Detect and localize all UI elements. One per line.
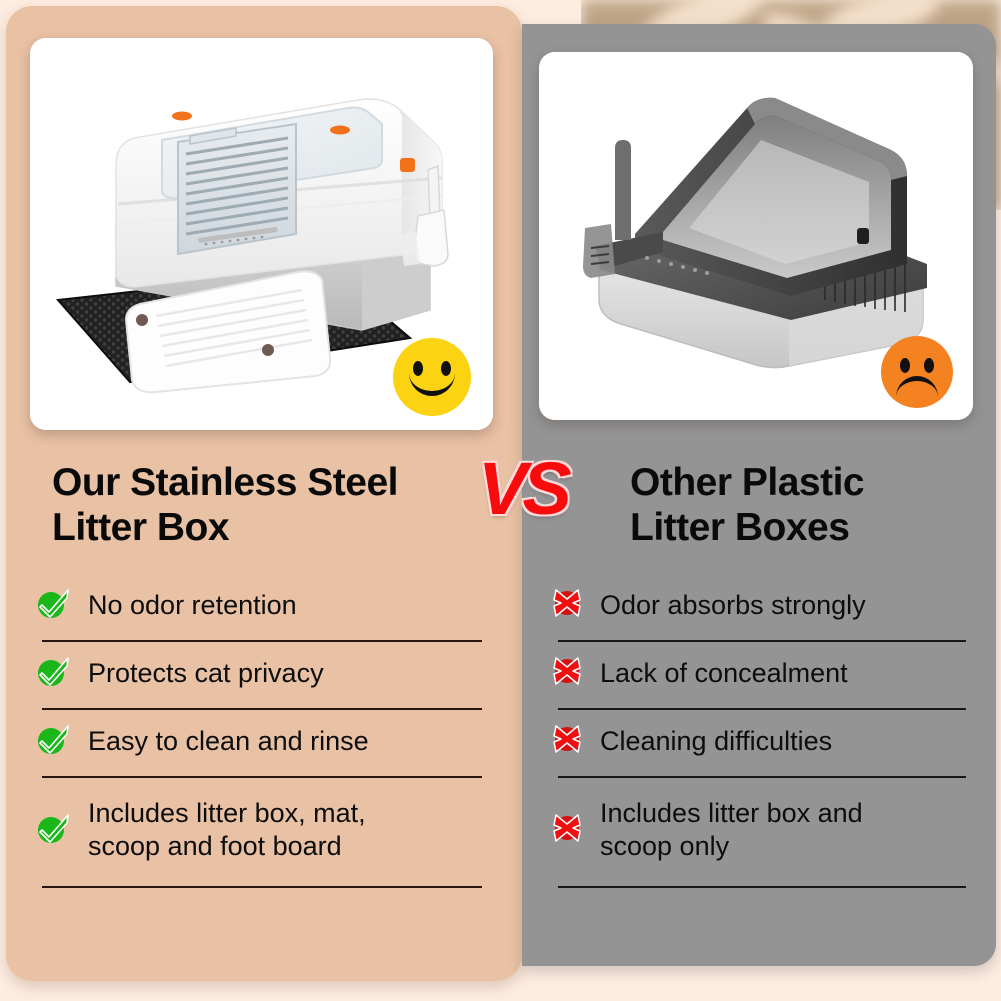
vs-badge: VS — [478, 452, 567, 526]
list-item: No odor retention — [36, 574, 488, 642]
red-x-icon — [552, 724, 582, 759]
list-item: Easy to clean and rinse — [36, 710, 488, 778]
list-item-label: Lack of concealment — [600, 657, 848, 690]
list-divider — [558, 886, 966, 888]
emoji-eye-right — [924, 358, 934, 373]
feature-list-left: No odor retention Protects cat privacy E… — [36, 574, 488, 888]
list-item: Cleaning difficulties — [552, 710, 972, 778]
red-x-icon — [552, 656, 582, 691]
list-item-label: Odor absorbs strongly — [600, 589, 866, 622]
sad-face-icon — [881, 336, 953, 408]
green-check-icon — [36, 811, 70, 850]
list-item-label: No odor retention — [88, 589, 297, 622]
list-divider — [42, 886, 482, 888]
green-check-icon — [36, 654, 70, 693]
feature-list-right: Odor absorbs strongly Lack of concealmen… — [552, 574, 972, 888]
green-check-icon — [36, 722, 70, 761]
list-item-label: Cleaning difficulties — [600, 725, 832, 758]
list-item: Protects cat privacy — [36, 642, 488, 710]
list-item: Lack of concealment — [552, 642, 972, 710]
green-check-icon — [36, 586, 70, 625]
smiley-face-icon — [393, 338, 471, 416]
product-photo-left — [30, 38, 493, 430]
emoji-mouth-frown — [896, 376, 938, 400]
heading-right: Other Plastic Litter Boxes — [630, 460, 980, 550]
list-item: Odor absorbs strongly — [552, 574, 972, 642]
list-item-label: Includes litter box, mat, scoop and foot… — [88, 797, 366, 863]
emoji-eye-left — [900, 358, 910, 373]
orange-latch-accent — [172, 112, 192, 121]
emoji-mouth-smile — [409, 371, 454, 396]
red-x-icon — [552, 813, 582, 848]
list-item: Includes litter box, mat, scoop and foot… — [36, 778, 488, 888]
heading-left: Our Stainless Steel Litter Box — [52, 460, 482, 550]
list-item-label: Easy to clean and rinse — [88, 725, 369, 758]
product-photo-right — [539, 52, 973, 420]
list-item: Includes litter box and scoop only — [552, 778, 972, 888]
list-item-label: Includes litter box and scoop only — [600, 797, 863, 863]
list-item-label: Protects cat privacy — [88, 657, 324, 690]
red-x-icon — [552, 588, 582, 623]
